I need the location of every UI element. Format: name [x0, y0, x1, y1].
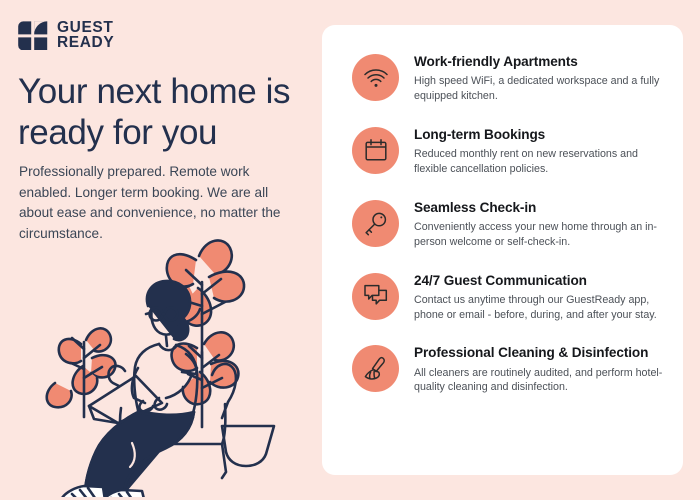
brand-wordmark: GUEST READY	[57, 20, 114, 50]
feature-item-guest-communication[interactable]: 24/7 Guest Communication Contact us anyt…	[352, 271, 665, 323]
hero-headline: Your next home is ready for you	[18, 72, 308, 154]
guestready-quadrant-mark	[18, 21, 48, 50]
brand-name-line2: READY	[57, 35, 114, 50]
feature-icon-badge	[352, 273, 399, 320]
chat-bubbles-icon	[363, 284, 389, 308]
feature-title: Professional Cleaning & Disinfection	[414, 345, 665, 361]
feature-item-seamless-check-in[interactable]: Seamless Check-in Conveniently access yo…	[352, 198, 665, 250]
feature-icon-badge	[352, 54, 399, 101]
feature-title: Long-term Bookings	[414, 127, 665, 143]
feature-text: Professional Cleaning & Disinfection All…	[414, 343, 665, 395]
feature-item-work-friendly-apartments[interactable]: Work-friendly Apartments High speed WiFi…	[352, 52, 665, 104]
woman-with-laptop-in-armchair-with-plants-illustration	[26, 222, 316, 497]
wifi-icon	[363, 67, 389, 89]
feature-description: High speed WiFi, a dedicated workspace a…	[414, 74, 665, 104]
brand-name-line1: GUEST	[57, 20, 114, 35]
feature-icon-badge	[352, 200, 399, 247]
brand-logo[interactable]: GUEST READY	[18, 20, 114, 50]
feature-text: Seamless Check-in Conveniently access yo…	[414, 198, 665, 250]
feature-list: Work-friendly Apartments High speed WiFi…	[322, 25, 683, 395]
feature-title: Work-friendly Apartments	[414, 54, 665, 70]
feature-text: 24/7 Guest Communication Contact us anyt…	[414, 271, 665, 323]
plant-small	[47, 328, 116, 417]
feature-text: Long-term Bookings Reduced monthly rent …	[414, 125, 665, 177]
feature-icon-badge	[352, 345, 399, 392]
feature-title: Seamless Check-in	[414, 200, 665, 216]
feature-description: Reduced monthly rent on new reservations…	[414, 147, 665, 177]
feature-description: Contact us anytime through our GuestRead…	[414, 293, 665, 323]
feature-text: Work-friendly Apartments High speed WiFi…	[414, 52, 665, 104]
key-icon	[363, 211, 388, 236]
calendar-icon	[364, 138, 388, 162]
features-card: Work-friendly Apartments High speed WiFi…	[322, 25, 683, 475]
feature-icon-badge	[352, 127, 399, 174]
feature-title: 24/7 Guest Communication	[414, 273, 665, 289]
hero-column: GUEST READY Your next home is ready for …	[0, 0, 322, 500]
feature-description: All cleaners are routinely audited, and …	[414, 366, 665, 396]
broom-icon	[363, 356, 388, 381]
feature-item-professional-cleaning[interactable]: Professional Cleaning & Disinfection All…	[352, 343, 665, 395]
feature-item-long-term-bookings[interactable]: Long-term Bookings Reduced monthly rent …	[352, 125, 665, 177]
feature-description: Conveniently access your new home throug…	[414, 220, 665, 250]
hero-illustration	[26, 222, 316, 497]
